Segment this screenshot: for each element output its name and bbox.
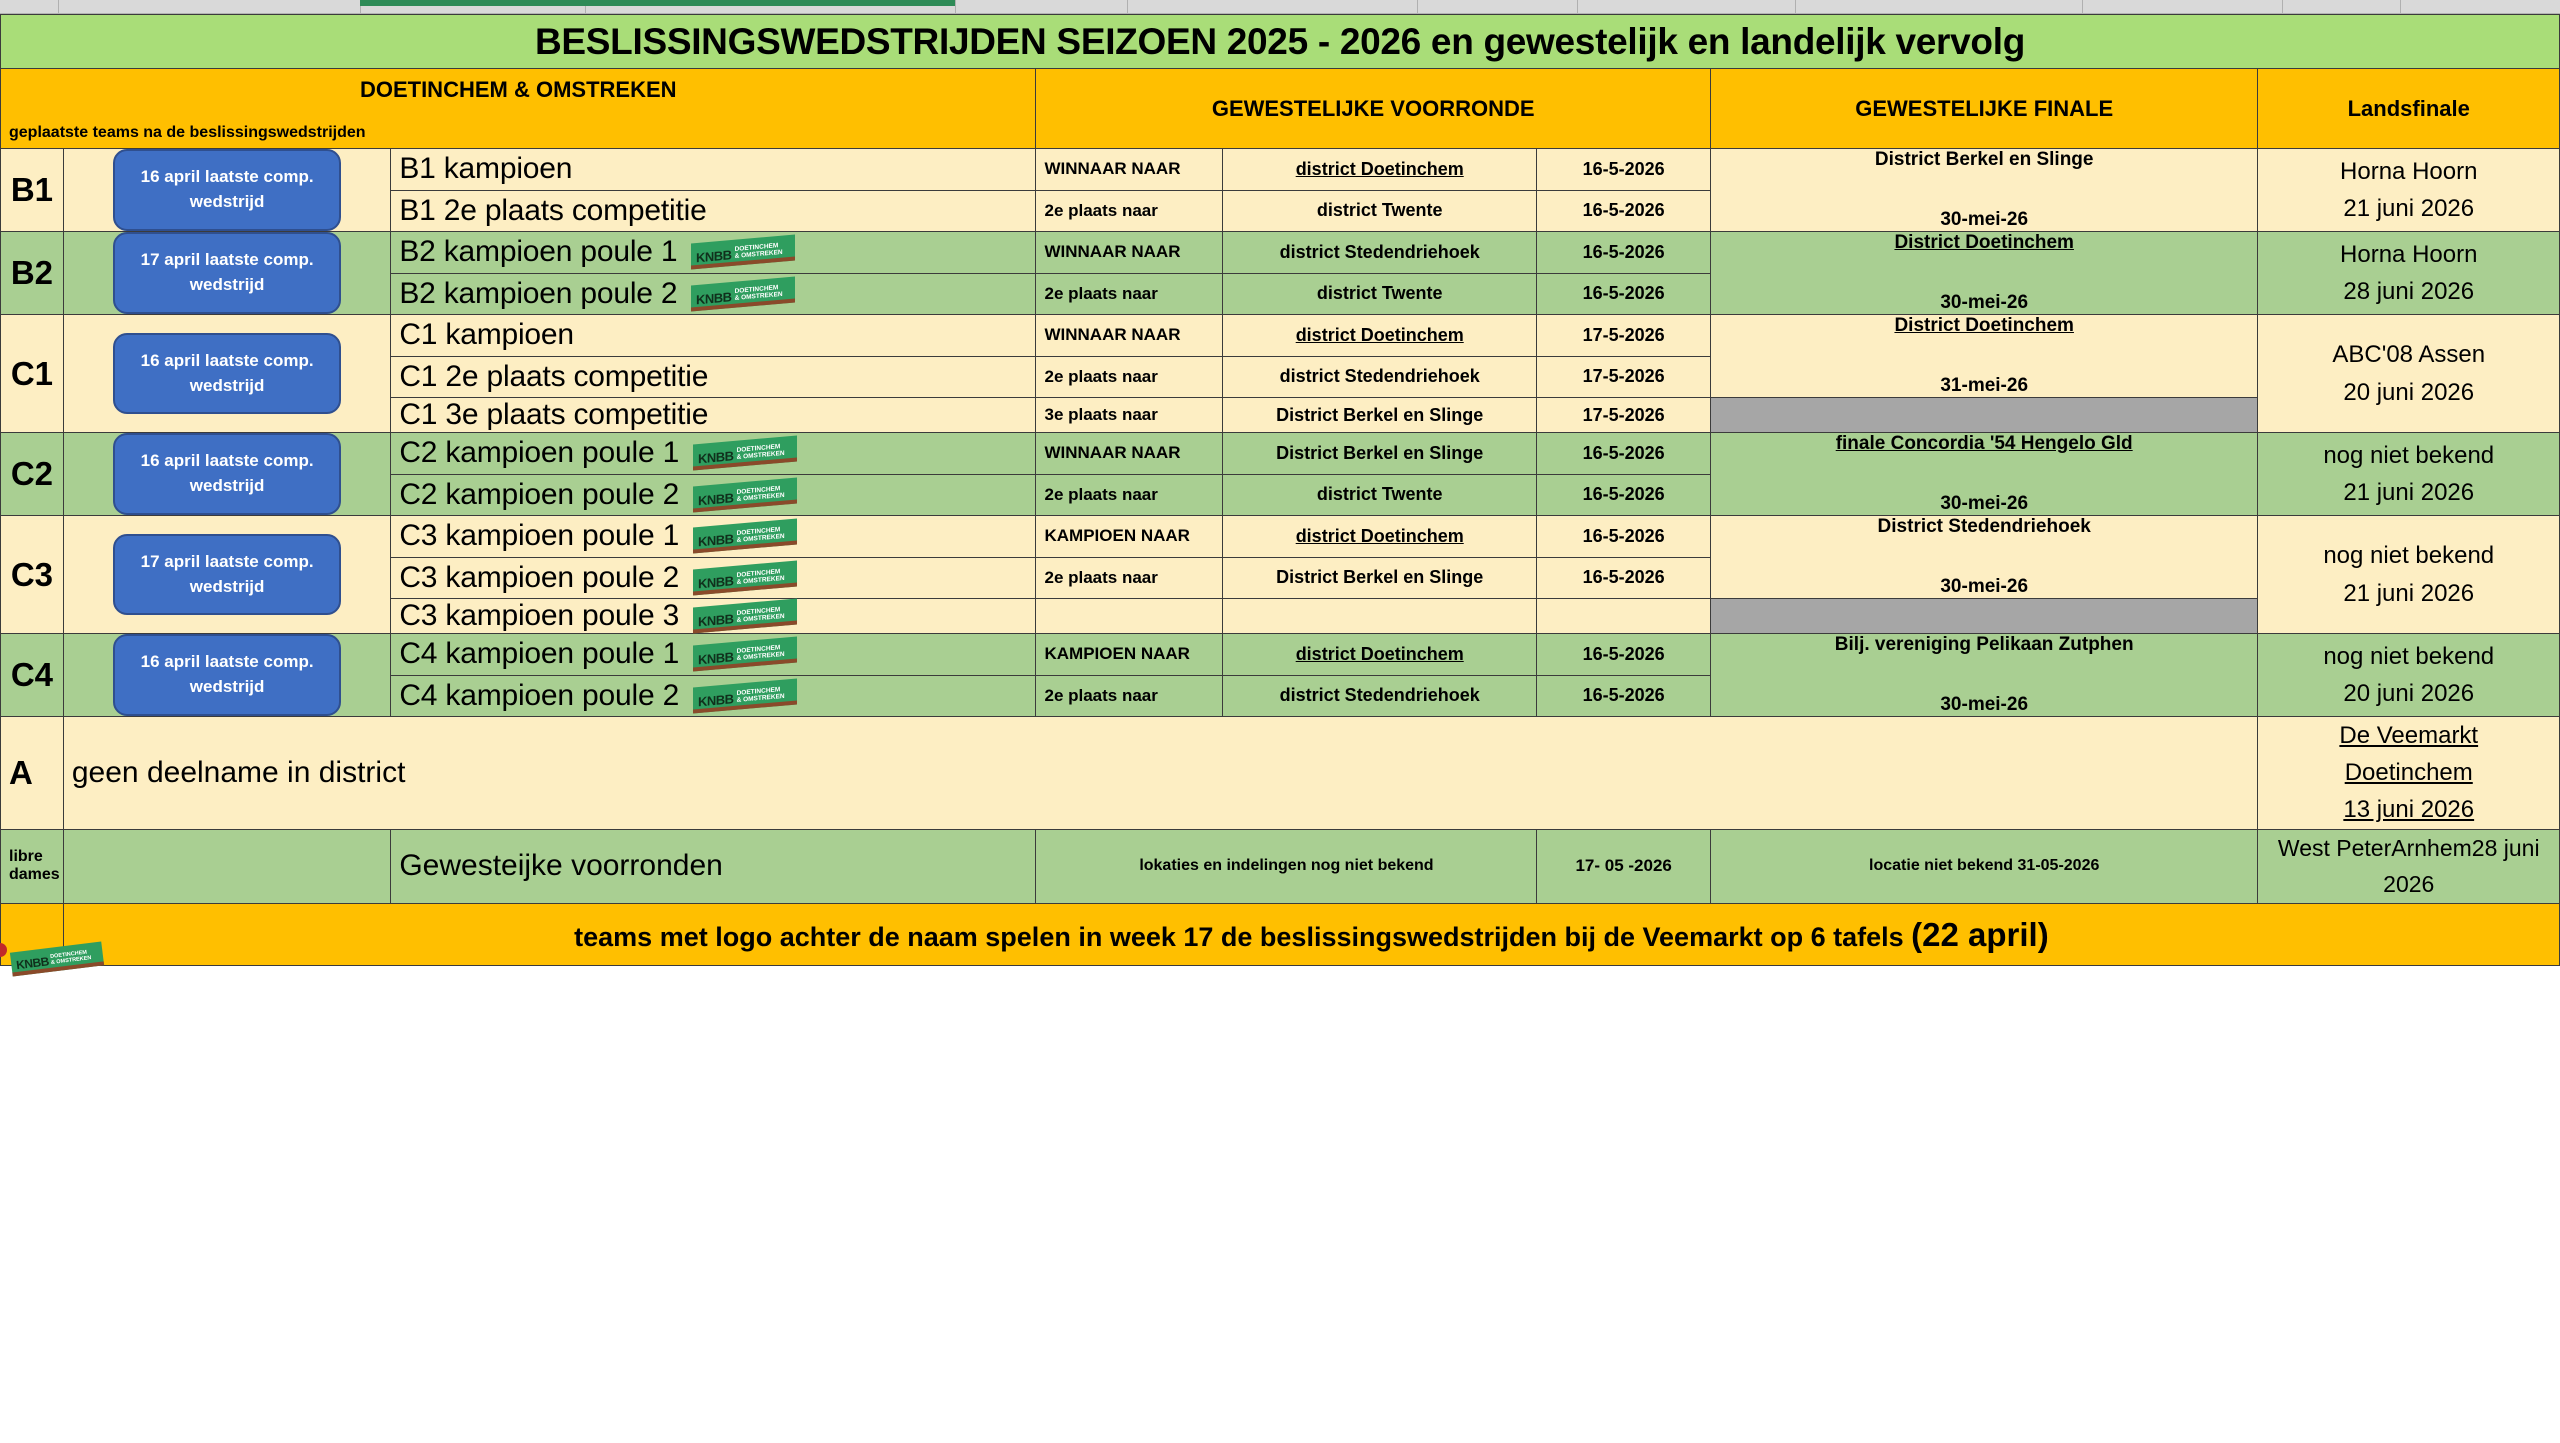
finale-date: 30-mei-26: [1719, 493, 2250, 515]
knbb-logo-icon: KNBBDOETINCHEM& OMSTREKEN: [693, 561, 803, 595]
date-cell: 16-5-2026: [1537, 273, 1710, 315]
knbb-logo-icon: KNBBDOETINCHEM& OMSTREKEN: [693, 519, 803, 553]
table-row: B116 april laatste comp. wedstrijdB1 kam…: [1, 149, 2560, 191]
category-cell-c4: C4: [1, 634, 64, 717]
page-title: BESLISSINGSWEDSTRIJDEN SEIZOEN 2025 - 20…: [9, 21, 2551, 63]
date-cell: 16-5-2026: [1537, 675, 1710, 717]
position-cell: WINNAAR NAAR: [1036, 315, 1223, 357]
position-label: WINNAAR NAAR: [1044, 443, 1180, 462]
team-cell: C2 kampioen poule 1KNBBDOETINCHEM& OMSTR…: [391, 433, 1036, 475]
category-label: C3: [9, 556, 55, 594]
category-cell-b2: B2: [1, 232, 64, 315]
footer-row: KNBBDOETINCHEM& OMSTREKENteams met logo …: [1, 904, 2560, 966]
team-cell: B1 2e plaats competitie: [391, 190, 1036, 232]
header-doetinchem-subtitle: geplaatste teams na de beslissingswedstr…: [9, 124, 1027, 142]
landsfinale-line: 13 juni 2026: [2266, 791, 2551, 828]
position-cell: 3e plaats naar: [1036, 398, 1223, 433]
libre-team-cell: Gewesteijke voorronden: [391, 829, 1036, 904]
header-voorronde: GEWESTELIJKE VOORRONDE: [1036, 69, 1710, 149]
landsfinale-cell: nog niet bekend20 juni 2026: [2258, 634, 2560, 717]
table-row-libre-dames: libre damesGewesteijke voorrondenlokatie…: [1, 829, 2560, 904]
landsfinale-line: 20 juni 2026: [2266, 675, 2551, 712]
position-cell: 2e plaats naar: [1036, 474, 1223, 516]
knbb-logo-icon: KNBBDOETINCHEM& OMSTREKEN: [693, 599, 803, 633]
team-label: C4 kampioen poule 2: [399, 679, 679, 713]
date-cell: 17-5-2026: [1537, 398, 1710, 433]
category-cell-b1: B1: [1, 149, 64, 232]
knbb-logo-icon: KNBBDOETINCHEM& OMSTREKEN: [693, 478, 803, 512]
date-label: 16-5-2026: [1545, 200, 1701, 221]
gewestelijke-finale-cell: District Berkel en Slinge30-mei-26: [1710, 149, 2258, 232]
landsfinale-cell: nog niet bekend21 juni 2026: [2258, 433, 2560, 516]
table-row: C116 april laatste comp. wedstrijdC1 kam…: [1, 315, 2560, 357]
finale-date: 30-mei-26: [1719, 694, 2250, 716]
date-cell: 16-5-2026: [1537, 634, 1710, 676]
landsfinale-cell: Horna Hoorn21 juni 2026: [2258, 149, 2560, 232]
last-match-note-cell: 16 april laatste comp. wedstrijd: [63, 149, 390, 232]
gewestelijke-finale-cell: District Stedendriehoek30-mei-26: [1710, 516, 2258, 599]
date-cell: 16-5-2026: [1537, 557, 1710, 599]
libre-team-label: Gewesteijke voorronden: [399, 849, 723, 882]
category-cell-c1: C1: [1, 315, 64, 433]
team-cell: C1 2e plaats competitie: [391, 356, 1036, 398]
landsfinale-line: Arnhem: [2391, 835, 2472, 861]
district-cell: district Twente: [1222, 190, 1536, 232]
finale-venue: District Doetinchem: [1719, 232, 2250, 254]
last-match-note-cell: 16 april laatste comp. wedstrijd: [63, 433, 390, 516]
gewestelijke-finale-cell: finale Concordia '54 Hengelo Gld30-mei-2…: [1710, 433, 2258, 516]
last-match-note-cell: 17 april laatste comp. wedstrijd: [63, 516, 390, 634]
date-label: 16-5-2026: [1545, 283, 1701, 304]
date-label: 17-5-2026: [1545, 405, 1701, 426]
team-cell: C1 3e plaats competitie: [391, 398, 1036, 433]
libre-voorronde-text-cell: lokaties en indelingen nog niet bekend: [1036, 829, 1537, 904]
libre-spacer-cell: [63, 829, 390, 904]
district-cell: [1222, 599, 1536, 634]
landsfinale-line: Horna Hoorn: [2266, 236, 2551, 273]
landsfinale-line: West Peter: [2278, 835, 2391, 861]
schedule-table: BESLISSINGSWEDSTRIJDEN SEIZOEN 2025 - 20…: [0, 14, 2560, 966]
district-cell: district Doetinchem: [1222, 149, 1536, 191]
date-cell: 17-5-2026: [1537, 315, 1710, 357]
footer-note-cell: teams met logo achter de naam spelen in …: [63, 904, 2559, 966]
team-label: B1 2e plaats competitie: [399, 194, 706, 228]
row-a-label: geen deelname in district: [72, 756, 406, 789]
header-landsfinale: Landsfinale: [2258, 69, 2560, 149]
date-label: 16-5-2026: [1545, 567, 1701, 588]
gewestelijke-finale-cell: Bilj. vereniging Pelikaan Zutphen30-mei-…: [1710, 634, 2258, 717]
finale-venue: District Berkel en Slinge: [1719, 149, 2250, 171]
district-label: district Doetinchem: [1231, 159, 1528, 180]
team-cell: C3 kampioen poule 3KNBBDOETINCHEM& OMSTR…: [391, 599, 1036, 634]
landsfinale-cell: ABC'08 Assen20 juni 2026: [2258, 315, 2560, 433]
date-cell: 16-5-2026: [1537, 190, 1710, 232]
schedule-sheet: BESLISSINGSWEDSTRIJDEN SEIZOEN 2025 - 20…: [0, 14, 2560, 966]
date-cell: 16-5-2026: [1537, 433, 1710, 475]
landsfinale-cell: nog niet bekend21 juni 2026: [2258, 516, 2560, 634]
landsfinale-line: Doetinchem: [2266, 754, 2551, 791]
libre-voorronde-date-cell: 17- 05 -2026: [1537, 829, 1710, 904]
date-cell: [1537, 599, 1710, 634]
header-doetinchem-title: DOETINCHEM & OMSTREKEN: [9, 77, 1027, 103]
position-cell: 2e plaats naar: [1036, 675, 1223, 717]
team-cell: B2 kampioen poule 2KNBBDOETINCHEM& OMSTR…: [391, 273, 1036, 315]
district-cell: district Stedendriehoek: [1222, 232, 1536, 274]
landsfinale-cell-a: De VeemarktDoetinchem13 juni 2026: [2258, 717, 2560, 830]
header-finale: GEWESTELIJKE FINALE: [1710, 69, 2258, 149]
position-cell: 2e plaats naar: [1036, 557, 1223, 599]
table-row: C216 april laatste comp. wedstrijdC2 kam…: [1, 433, 2560, 475]
last-match-note-badge[interactable]: 16 april laatste comp. wedstrijd: [113, 333, 341, 414]
landsfinale-line: ABC'08 Assen: [2266, 336, 2551, 373]
category-label: B1: [9, 171, 55, 209]
last-match-note-cell: 16 april laatste comp. wedstrijd: [63, 634, 390, 717]
team-label: C3 kampioen poule 2: [399, 561, 679, 595]
knbb-logo-icon: KNBBDOETINCHEM& OMSTREKEN: [691, 235, 801, 269]
position-label: WINNAAR NAAR: [1044, 159, 1180, 178]
position-label: 2e plaats naar: [1044, 201, 1157, 220]
position-label: 2e plaats naar: [1044, 568, 1157, 587]
landsfinale-line: nog niet bekend: [2266, 638, 2551, 675]
libre-voorronde-label: lokaties en indelingen nog niet bekend: [1044, 857, 1528, 875]
position-cell: WINNAAR NAAR: [1036, 433, 1223, 475]
category-cell-c2: C2: [1, 433, 64, 516]
position-label: KAMPIOEN NAAR: [1044, 644, 1189, 663]
position-cell: 2e plaats naar: [1036, 273, 1223, 315]
landsfinale-line: Horna Hoorn: [2266, 153, 2551, 190]
team-label: B2 kampioen poule 1: [399, 235, 677, 269]
last-match-note-badge[interactable]: 17 april laatste comp. wedstrijd: [113, 534, 341, 615]
district-cell: district Doetinchem: [1222, 315, 1536, 357]
category-label: C2: [9, 455, 55, 493]
team-cell: C3 kampioen poule 1KNBBDOETINCHEM& OMSTR…: [391, 516, 1036, 558]
district-label: district Twente: [1231, 283, 1528, 304]
team-cell: C2 kampioen poule 2KNBBDOETINCHEM& OMSTR…: [391, 474, 1036, 516]
district-cell: District Berkel en Slinge: [1222, 433, 1536, 475]
category-label: B2: [9, 254, 55, 292]
last-match-note-badge[interactable]: 16 april laatste comp. wedstrijd: [113, 433, 341, 514]
district-cell: district Doetinchem: [1222, 516, 1536, 558]
finale-date: 31-mei-26: [1719, 375, 2250, 397]
team-label: C3 kampioen poule 1: [399, 519, 679, 553]
date-label: 16-5-2026: [1545, 159, 1701, 180]
category-cell-libre-dames: libre dames: [1, 829, 64, 904]
header-row: DOETINCHEM & OMSTREKENgeplaatste teams n…: [1, 69, 2560, 149]
landsfinale-line: 28 juni 2026: [2266, 273, 2551, 310]
date-cell: 16-5-2026: [1537, 232, 1710, 274]
district-label: district Twente: [1231, 200, 1528, 221]
district-label: district Doetinchem: [1231, 526, 1528, 547]
position-cell: KAMPIOEN NAAR: [1036, 634, 1223, 676]
date-cell: 16-5-2026: [1537, 474, 1710, 516]
finale-venue: finale Concordia '54 Hengelo Gld: [1719, 433, 2250, 455]
date-cell: 16-5-2026: [1537, 516, 1710, 558]
landsfinale-line: 21 juni 2026: [2266, 575, 2551, 612]
date-label: 16-5-2026: [1545, 526, 1701, 547]
team-cell: B2 kampioen poule 1KNBBDOETINCHEM& OMSTR…: [391, 232, 1036, 274]
table-row: B217 april laatste comp. wedstrijdB2 kam…: [1, 232, 2560, 274]
table-row: C416 april laatste comp. wedstrijdC4 kam…: [1, 634, 2560, 676]
position-label: 2e plaats naar: [1044, 284, 1157, 303]
team-cell: C4 kampioen poule 2KNBBDOETINCHEM& OMSTR…: [391, 675, 1036, 717]
district-cell: district Twente: [1222, 474, 1536, 516]
date-label: 16-5-2026: [1545, 484, 1701, 505]
district-label: district Stedendriehoek: [1231, 685, 1528, 706]
team-label: C1 3e plaats competitie: [399, 398, 708, 432]
category-cell-c3: C3: [1, 516, 64, 634]
banner-cell: BESLISSINGSWEDSTRIJDEN SEIZOEN 2025 - 20…: [1, 15, 2560, 69]
team-label: C3 kampioen poule 3: [399, 599, 679, 633]
table-row: C317 april laatste comp. wedstrijdC3 kam…: [1, 516, 2560, 558]
position-label: 3e plaats naar: [1044, 405, 1157, 424]
date-label: 16-5-2026: [1545, 685, 1701, 706]
position-label: KAMPIOEN NAAR: [1044, 526, 1189, 545]
category-label: C4: [9, 656, 55, 694]
last-match-note-badge[interactable]: 16 april laatste comp. wedstrijd: [113, 634, 341, 715]
team-cell: C4 kampioen poule 1KNBBDOETINCHEM& OMSTR…: [391, 634, 1036, 676]
knbb-logo-icon: KNBBDOETINCHEM& OMSTREKEN: [693, 436, 803, 470]
knbb-logo-icon: KNBBDOETINCHEM& OMSTREKEN: [693, 637, 803, 671]
position-cell: [1036, 599, 1223, 634]
position-cell: 2e plaats naar: [1036, 190, 1223, 232]
position-label: WINNAAR NAAR: [1044, 242, 1180, 261]
date-label: 16-5-2026: [1545, 443, 1701, 464]
landsfinale-line: De Veemarkt: [2266, 717, 2551, 754]
banner-row: BESLISSINGSWEDSTRIJDEN SEIZOEN 2025 - 20…: [1, 15, 2560, 69]
position-label: 2e plaats naar: [1044, 686, 1157, 705]
date-label: 17-5-2026: [1545, 366, 1701, 387]
team-label: C1 2e plaats competitie: [399, 360, 708, 394]
category-cell-a: A: [1, 717, 64, 830]
finale-empty-block: [1710, 599, 2258, 634]
position-cell: KAMPIOEN NAAR: [1036, 516, 1223, 558]
libre-finale-label: locatie niet bekend 31-05-2026: [1719, 857, 2250, 875]
position-label: 2e plaats naar: [1044, 367, 1157, 386]
category-label: A: [9, 754, 33, 791]
team-cell: C1 kampioen: [391, 315, 1036, 357]
finale-date: 30-mei-26: [1719, 576, 2250, 598]
team-label: C1 kampioen: [399, 318, 574, 352]
finale-empty-block: [1710, 398, 2258, 433]
knbb-logo-icon: KNBBDOETINCHEM& OMSTREKEN: [693, 679, 803, 713]
team-label: B1 kampioen: [399, 152, 572, 186]
footer-logo-cell: KNBBDOETINCHEM& OMSTREKEN: [1, 904, 64, 966]
header-doetinchem: DOETINCHEM & OMSTREKENgeplaatste teams n…: [1, 69, 1036, 149]
date-label: 16-5-2026: [1545, 242, 1701, 263]
last-match-note-cell: 16 april laatste comp. wedstrijd: [63, 315, 390, 433]
district-cell: district Stedendriehoek: [1222, 356, 1536, 398]
last-match-note-cell: 17 april laatste comp. wedstrijd: [63, 232, 390, 315]
last-match-note-badge[interactable]: 17 april laatste comp. wedstrijd: [113, 232, 341, 313]
category-label: libre dames: [9, 848, 60, 883]
finale-venue: Bilj. vereniging Pelikaan Zutphen: [1719, 634, 2250, 656]
position-cell: WINNAAR NAAR: [1036, 149, 1223, 191]
position-label: 2e plaats naar: [1044, 485, 1157, 504]
district-cell: District Berkel en Slinge: [1222, 557, 1536, 599]
district-label: District Berkel en Slinge: [1231, 567, 1528, 588]
landsfinale-line: 21 juni 2026: [2266, 474, 2551, 511]
date-cell: 16-5-2026: [1537, 149, 1710, 191]
finale-date: 30-mei-26: [1719, 209, 2250, 231]
team-cell: B1 kampioen: [391, 149, 1036, 191]
team-label: B2 kampioen poule 2: [399, 277, 677, 311]
row-a-text-cell: geen deelname in district: [63, 717, 2258, 830]
date-cell: 17-5-2026: [1537, 356, 1710, 398]
spreadsheet-column-strip: [0, 0, 2560, 14]
district-cell: District Berkel en Slinge: [1222, 398, 1536, 433]
gewestelijke-finale-cell: District Doetinchem31-mei-26: [1710, 315, 2258, 398]
district-label: district Stedendriehoek: [1231, 242, 1528, 263]
team-label: C2 kampioen poule 2: [399, 478, 679, 512]
libre-finale-cell: locatie niet bekend 31-05-2026: [1710, 829, 2258, 904]
position-cell: 2e plaats naar: [1036, 356, 1223, 398]
district-label: district Doetinchem: [1231, 325, 1528, 346]
landsfinale-line: nog niet bekend: [2266, 537, 2551, 574]
team-cell: C3 kampioen poule 2KNBBDOETINCHEM& OMSTR…: [391, 557, 1036, 599]
team-label: C2 kampioen poule 1: [399, 436, 679, 470]
gewestelijke-finale-cell: District Doetinchem30-mei-26: [1710, 232, 2258, 315]
finale-date: 30-mei-26: [1719, 292, 2250, 314]
position-cell: WINNAAR NAAR: [1036, 232, 1223, 274]
landsfinale-cell-libre: West PeterArnhem28 juni 2026: [2258, 829, 2560, 904]
landsfinale-line: 21 juni 2026: [2266, 190, 2551, 227]
district-label: District Berkel en Slinge: [1231, 405, 1528, 426]
finale-venue: District Doetinchem: [1719, 315, 2250, 337]
district-label: district Doetinchem: [1231, 644, 1528, 665]
footer-note-label: teams met logo achter de naam spelen in …: [72, 916, 2551, 954]
landsfinale-line: nog niet bekend: [2266, 437, 2551, 474]
finale-venue: District Stedendriehoek: [1719, 516, 2250, 538]
district-label: district Twente: [1231, 484, 1528, 505]
landsfinale-cell: Horna Hoorn28 juni 2026: [2258, 232, 2560, 315]
selected-column-highlight: [360, 0, 955, 6]
district-label: District Berkel en Slinge: [1231, 443, 1528, 464]
category-label: C1: [9, 355, 55, 393]
position-label: WINNAAR NAAR: [1044, 325, 1180, 344]
district-cell: district Stedendriehoek: [1222, 675, 1536, 717]
district-cell: district Doetinchem: [1222, 634, 1536, 676]
libre-voorronde-date: 17- 05 -2026: [1545, 856, 1701, 876]
landsfinale-line: 20 juni 2026: [2266, 374, 2551, 411]
district-label: district Stedendriehoek: [1231, 366, 1528, 387]
knbb-logo-icon: KNBBDOETINCHEM& OMSTREKEN: [691, 277, 801, 311]
date-label: 16-5-2026: [1545, 644, 1701, 665]
team-label: C4 kampioen poule 1: [399, 637, 679, 671]
date-label: 17-5-2026: [1545, 325, 1701, 346]
last-match-note-badge[interactable]: 16 april laatste comp. wedstrijd: [113, 149, 341, 230]
district-cell: district Twente: [1222, 273, 1536, 315]
table-row-a: Ageen deelname in districtDe VeemarktDoe…: [1, 717, 2560, 830]
